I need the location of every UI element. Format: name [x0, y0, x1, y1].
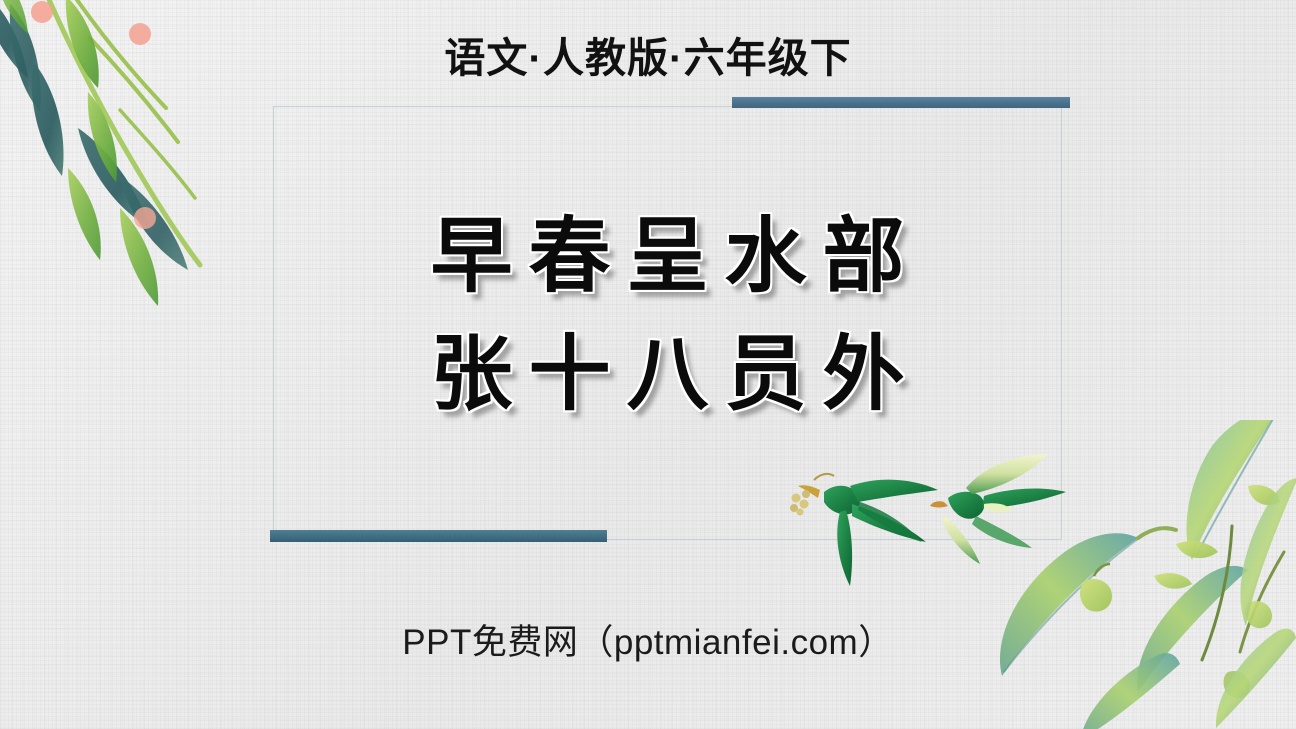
footer-credit: PPT免费网（pptmianfei.com）: [0, 614, 1296, 665]
page-title: 早春呈水部 张十八员外: [273, 198, 1062, 434]
page-subject-line: 语文·人教版·六年级下: [0, 34, 1296, 83]
slide-canvas: 语文·人教版·六年级下 早春呈水部 张十八员外: [0, 0, 1296, 729]
accent-bar-bottom: [270, 530, 607, 542]
title-line-2: 张十八员外: [273, 316, 1062, 434]
title-line-1: 早春呈水部: [273, 198, 1062, 316]
accent-bar-top: [732, 97, 1070, 108]
